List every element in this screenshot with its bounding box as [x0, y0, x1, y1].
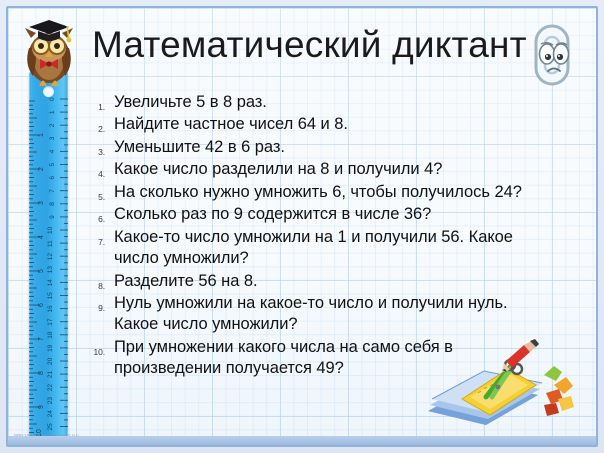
svg-text:10: 10	[47, 226, 54, 234]
list-item: 2. Найдите частное чисел 64 и 8.	[86, 114, 556, 135]
school-supplies-icon	[418, 337, 588, 433]
page-title: Математический диктант	[92, 24, 522, 65]
svg-text:16: 16	[47, 305, 54, 313]
list-item: 7. Какое-то число умножили на 1 и получи…	[86, 227, 556, 270]
svg-text:13: 13	[47, 266, 54, 274]
list-item-number: 2.	[86, 114, 114, 134]
svg-text:17: 17	[47, 318, 54, 326]
ruler-icon: 1 2 3 4 5 6 7 8 9 10	[29, 71, 68, 443]
list-item-number: 3.	[86, 137, 114, 157]
svg-text:14: 14	[47, 279, 54, 287]
svg-text:2: 2	[49, 123, 56, 127]
list-item: 9. Нуль умножили на какое-то число и пол…	[86, 293, 556, 336]
svg-text:25: 25	[47, 423, 54, 431]
svg-text:3: 3	[49, 136, 56, 140]
svg-text:20: 20	[47, 357, 54, 365]
slide: Математический диктант 1. Увеличьте 5 в …	[0, 0, 604, 453]
list-item-text: Разделите 56 на 8.	[114, 271, 556, 292]
svg-text:0: 0	[49, 97, 56, 101]
svg-text:22: 22	[47, 384, 54, 392]
svg-text:3: 3	[38, 201, 45, 205]
svg-text:23: 23	[47, 397, 54, 405]
svg-text:9: 9	[38, 405, 45, 409]
svg-text:8: 8	[38, 371, 45, 375]
list-item: 4. Какое число разделили на 8 и получили…	[86, 159, 556, 180]
list-item-text: На сколько нужно умножить 6, чтобы получ…	[114, 182, 556, 203]
svg-text:11: 11	[47, 240, 54, 247]
list-item: 8. Разделите 56 на 8.	[86, 271, 556, 292]
svg-text:18: 18	[47, 331, 54, 339]
list-item-text: Нуль умножили на какое-то число и получи…	[114, 293, 556, 336]
list-item-number: 8.	[86, 271, 114, 291]
ruler-markings: 1 2 3 4 5 6 7 8 9 10	[29, 71, 68, 443]
svg-text:19: 19	[47, 344, 54, 352]
svg-text:4: 4	[38, 235, 45, 239]
svg-text:2: 2	[38, 167, 45, 171]
svg-text:1: 1	[49, 110, 56, 114]
list-item-number: 4.	[86, 159, 114, 179]
list-item-number: 6.	[86, 204, 114, 224]
paperclip-character-icon	[514, 14, 586, 88]
svg-text:6: 6	[49, 176, 56, 180]
list-item: 3. Уменьшите 42 в 6 раз.	[86, 137, 556, 158]
list-item: 6. Сколько раз по 9 содержится в числе 3…	[86, 204, 556, 225]
svg-text:15: 15	[47, 292, 54, 300]
svg-text:7: 7	[49, 189, 56, 193]
svg-text:24: 24	[47, 410, 54, 418]
svg-text:21: 21	[47, 370, 54, 378]
svg-text:6: 6	[38, 303, 45, 307]
list-item-text: Сколько раз по 9 содержится в числе 36?	[114, 204, 556, 225]
list-item-number: 9.	[86, 293, 114, 313]
list-item-number: 7.	[86, 227, 114, 247]
list-item-text: Какое-то число умножили на 1 и получили …	[114, 227, 556, 270]
list-item-number: 1.	[86, 92, 114, 112]
svg-text:12: 12	[47, 253, 54, 261]
list-item: 5. На сколько нужно умножить 6, чтобы по…	[86, 182, 556, 203]
svg-text:7: 7	[38, 337, 45, 341]
paper-frame: Математический диктант 1. Увеличьте 5 в …	[6, 6, 598, 447]
svg-text:5: 5	[49, 163, 56, 167]
svg-text:8: 8	[49, 202, 56, 206]
list-item-number: 5.	[86, 182, 114, 202]
owl-graduate-icon	[16, 12, 82, 88]
bottom-band	[8, 436, 596, 445]
list-item-text: Какое число разделили на 8 и получили 4?	[114, 159, 556, 180]
list-item-text: Уменьшите 42 в 6 раз.	[114, 137, 556, 158]
svg-text:1: 1	[38, 133, 45, 137]
list-item: 1. Увеличьте 5 в 8 раз.	[86, 92, 556, 113]
svg-text:4: 4	[49, 149, 56, 153]
svg-text:5: 5	[38, 269, 45, 273]
svg-text:9: 9	[49, 215, 56, 219]
list-item-text: Найдите частное чисел 64 и 8.	[114, 114, 556, 135]
list-item-number: 10.	[86, 337, 114, 357]
list-item-text: Увеличьте 5 в 8 раз.	[114, 92, 556, 113]
